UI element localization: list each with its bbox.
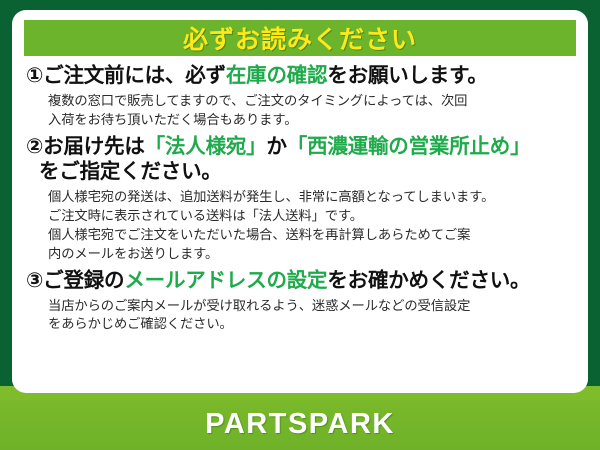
item-3-heading-part-1: ③ご登録の — [26, 269, 124, 292]
item-3-heading: ③ご登録のメールアドレスの設定をお確かめください。 — [26, 268, 574, 294]
page-title: 必ずお読みください — [183, 20, 417, 56]
item-2-subtext-line-2: ご注文時に表示されている送料は「法人送料」です。 — [48, 207, 574, 226]
item-1-subtext-line-2: 入荷をお待ち頂いただく場合もあります。 — [48, 111, 574, 130]
notice-card: 必ずお読みください ①ご注文前には、必ず在庫の確認をお願いします。 複数の窓口で… — [12, 10, 588, 393]
item-2-subtext-line-4: 内のメールをお送りします。 — [48, 245, 574, 264]
title-banner: 必ずお読みください — [24, 20, 576, 56]
footer-brand-bar: PARTSPARK — [0, 398, 600, 450]
item-2-heading-part-3: か — [266, 135, 286, 158]
item-1-heading-part-1: ①ご注文前には、必ず — [26, 64, 226, 87]
item-2-heading-highlight-1: 「法人様宛」 — [145, 135, 267, 158]
item-3-heading-highlight: メールアドレスの設定 — [124, 269, 327, 292]
item-1-subtext-line-1: 複数の窓口で販売してますので、ご注文のタイミングによっては、次回 — [48, 92, 574, 111]
item-2-heading-part-1: ②お届け先は — [26, 135, 145, 158]
item-2-heading-highlight-2: 「西濃運輸の営業所止め」 — [287, 135, 531, 158]
item-1-subtext: 複数の窓口で販売してますので、ご注文のタイミングによっては、次回 入荷をお待ち頂… — [26, 92, 574, 130]
brand-logo-text: PARTSPARK — [205, 408, 395, 441]
notice-item-2: ②お届け先は「法人様宛」か「西濃運輸の営業所止め」 をご指定ください。 個人様宅… — [26, 134, 574, 264]
item-3-subtext-line-2: をあらかじめご確認ください。 — [48, 315, 574, 334]
item-2-subtext: 個人様宅宛の発送は、追加送料が発生し、非常に高額となってしまいます。 ご注文時に… — [26, 188, 574, 264]
notice-list: ①ご注文前には、必ず在庫の確認をお願いします。 複数の窓口で販売してますので、ご… — [12, 56, 588, 334]
item-1-heading-part-3: をお願いします。 — [327, 64, 487, 87]
item-2-heading-line-2: をご指定ください。 — [26, 159, 574, 185]
item-3-subtext: 当店からのご案内メールが受け取れるよう、迷惑メールなどの受信設定 をあらかじめご… — [26, 297, 574, 335]
notice-item-3: ③ご登録のメールアドレスの設定をお確かめください。 当店からのご案内メールが受け… — [26, 268, 574, 335]
item-3-subtext-line-1: 当店からのご案内メールが受け取れるよう、迷惑メールなどの受信設定 — [48, 297, 574, 316]
notice-item-1: ①ご注文前には、必ず在庫の確認をお願いします。 複数の窓口で販売してますので、ご… — [26, 63, 574, 130]
item-2-heading: ②お届け先は「法人様宛」か「西濃運輸の営業所止め」 — [26, 134, 574, 160]
item-1-heading-highlight: 在庫の確認 — [226, 64, 328, 87]
item-3-heading-part-3: をお確かめください。 — [327, 269, 530, 292]
item-2-subtext-line-1: 個人様宅宛の発送は、追加送料が発生し、非常に高額となってしまいます。 — [48, 188, 574, 207]
item-1-heading: ①ご注文前には、必ず在庫の確認をお願いします。 — [26, 63, 574, 89]
item-2-subtext-line-3: 個人様宅宛でご注文をいただいた場合、送料を再計算しあらためてご案 — [48, 226, 574, 245]
notice-frame: 必ずお読みください ①ご注文前には、必ず在庫の確認をお願いします。 複数の窓口で… — [0, 0, 600, 450]
